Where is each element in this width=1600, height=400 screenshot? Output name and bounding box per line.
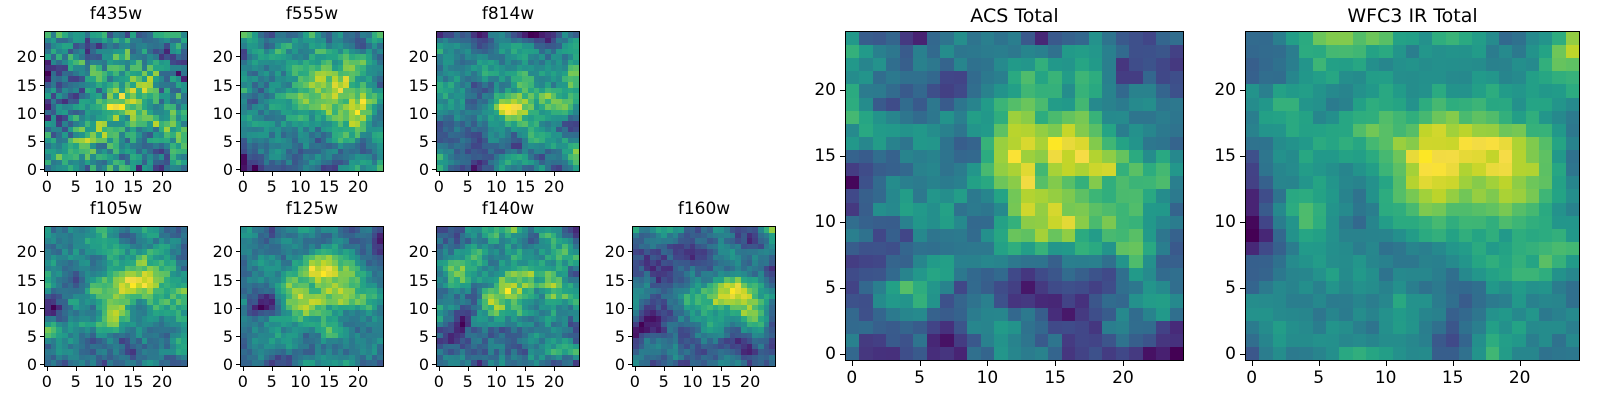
x-tick-label: 10: [967, 368, 1007, 388]
x-tick: [272, 367, 273, 371]
y-tick: [40, 251, 44, 252]
y-tick-label: 5: [588, 327, 625, 346]
y-tick: [1240, 354, 1245, 355]
x-tick: [1319, 361, 1320, 366]
y-tick-label: 15: [1201, 146, 1236, 166]
y-tick-label: 5: [1201, 278, 1236, 298]
y-tick: [236, 364, 240, 365]
x-tick: [47, 367, 48, 371]
heatmap-f435w: [44, 31, 188, 172]
y-tick-label: 0: [0, 160, 37, 179]
x-tick-label: 20: [142, 177, 182, 196]
y-tick: [236, 308, 240, 309]
y-tick-label: 15: [588, 271, 625, 290]
panel-title-f555w: f555w: [240, 4, 384, 24]
x-tick-label: 10: [1366, 368, 1406, 388]
x-tick: [329, 367, 330, 371]
y-tick: [236, 141, 240, 142]
y-tick-label: 20: [0, 242, 37, 261]
x-tick: [496, 367, 497, 371]
x-tick: [987, 361, 988, 366]
heatmap-f814w: [436, 31, 580, 172]
panel-f435w: f435w0510152005101520: [0, 5, 190, 196]
y-tick-label: 0: [801, 344, 836, 364]
y-tick-label: 20: [0, 47, 37, 66]
x-tick: [554, 367, 555, 371]
y-tick-label: 15: [0, 76, 37, 95]
y-tick: [840, 90, 845, 91]
y-tick: [628, 280, 632, 281]
y-tick-label: 0: [1201, 344, 1236, 364]
x-tick-label: 20: [730, 372, 770, 391]
x-tick: [468, 172, 469, 176]
figure-canvas: f435w0510152005101520f555w05101520051015…: [0, 0, 1600, 400]
y-tick-label: 10: [196, 299, 233, 318]
x-tick: [76, 172, 77, 176]
panel-f160w: f160w0510152005101520: [588, 200, 778, 391]
y-tick: [40, 364, 44, 365]
y-tick-label: 5: [196, 327, 233, 346]
panel-title-acs-total: ACS Total: [845, 5, 1184, 27]
y-tick-label: 5: [392, 132, 429, 151]
y-tick: [432, 336, 436, 337]
y-tick-label: 10: [1201, 212, 1236, 232]
y-tick: [432, 251, 436, 252]
y-tick: [432, 169, 436, 170]
y-tick-label: 5: [196, 132, 233, 151]
y-tick: [40, 141, 44, 142]
x-tick: [1055, 361, 1056, 366]
panel-title-f435w: f435w: [44, 4, 188, 24]
y-tick: [628, 336, 632, 337]
y-tick: [1240, 222, 1245, 223]
x-tick: [104, 367, 105, 371]
y-tick-label: 0: [196, 160, 233, 179]
y-tick: [628, 308, 632, 309]
x-tick: [272, 172, 273, 176]
y-tick-label: 20: [196, 47, 233, 66]
y-tick: [40, 169, 44, 170]
y-tick: [236, 85, 240, 86]
y-tick: [236, 169, 240, 170]
y-tick: [432, 141, 436, 142]
x-tick: [243, 367, 244, 371]
x-tick-label: 20: [338, 372, 378, 391]
x-tick-label: 0: [832, 368, 872, 388]
y-tick-label: 15: [0, 271, 37, 290]
heatmap-acs-total: [845, 31, 1184, 361]
x-tick: [133, 367, 134, 371]
y-tick-label: 20: [196, 242, 233, 261]
x-tick-label: 20: [534, 177, 574, 196]
x-tick-label: 20: [1500, 368, 1540, 388]
x-tick-label: 5: [900, 368, 940, 388]
x-tick: [358, 367, 359, 371]
x-tick: [439, 367, 440, 371]
panel-f555w: f555w0510152005101520: [196, 5, 386, 196]
y-tick: [840, 222, 845, 223]
y-tick: [40, 85, 44, 86]
x-tick: [554, 172, 555, 176]
y-tick: [628, 251, 632, 252]
y-tick-label: 5: [0, 132, 37, 151]
y-tick: [432, 308, 436, 309]
y-tick: [432, 364, 436, 365]
y-tick: [432, 56, 436, 57]
y-tick: [236, 280, 240, 281]
x-tick: [1520, 361, 1521, 366]
y-tick-label: 10: [196, 104, 233, 123]
y-tick-label: 15: [392, 271, 429, 290]
x-tick-label: 5: [1299, 368, 1339, 388]
y-tick: [1240, 288, 1245, 289]
heatmap-wfc3-ir-total: [1245, 31, 1580, 361]
x-tick-label: 0: [1232, 368, 1272, 388]
y-tick-label: 0: [196, 355, 233, 374]
x-tick: [104, 172, 105, 176]
y-tick-label: 20: [1201, 80, 1236, 100]
x-tick: [468, 367, 469, 371]
x-tick: [1386, 361, 1387, 366]
x-tick: [133, 172, 134, 176]
panel-wfc3-ir-total: WFC3 IR Total0510152005101520: [1201, 5, 1582, 385]
y-tick-label: 20: [588, 242, 625, 261]
heatmap-f125w: [240, 226, 384, 367]
y-tick: [628, 364, 632, 365]
x-tick: [1123, 361, 1124, 366]
panel-f105w: f105w0510152005101520: [0, 200, 190, 391]
y-tick-label: 0: [0, 355, 37, 374]
x-tick: [664, 367, 665, 371]
heatmap-f555w: [240, 31, 384, 172]
y-tick-label: 0: [392, 160, 429, 179]
y-tick: [40, 113, 44, 114]
x-tick: [525, 367, 526, 371]
panel-title-f160w: f160w: [632, 199, 776, 219]
y-tick-label: 10: [392, 104, 429, 123]
x-tick: [76, 367, 77, 371]
x-tick: [496, 172, 497, 176]
x-tick: [162, 172, 163, 176]
y-tick-label: 15: [801, 146, 836, 166]
y-tick: [432, 113, 436, 114]
x-tick: [243, 172, 244, 176]
panel-acs-total: ACS Total0510152005101520: [801, 5, 1186, 385]
y-tick: [40, 308, 44, 309]
y-tick: [236, 113, 240, 114]
y-tick-label: 5: [392, 327, 429, 346]
y-tick-label: 10: [392, 299, 429, 318]
y-tick: [432, 85, 436, 86]
y-tick-label: 10: [0, 104, 37, 123]
y-tick: [840, 288, 845, 289]
x-tick-label: 20: [1103, 368, 1143, 388]
x-tick: [358, 172, 359, 176]
x-tick: [300, 367, 301, 371]
y-tick-label: 5: [0, 327, 37, 346]
x-tick-label: 20: [338, 177, 378, 196]
y-tick-label: 5: [801, 278, 836, 298]
x-tick: [920, 361, 921, 366]
y-tick-label: 15: [196, 76, 233, 95]
y-tick-label: 20: [392, 47, 429, 66]
y-tick: [840, 354, 845, 355]
panel-title-f105w: f105w: [44, 199, 188, 219]
y-tick-label: 20: [801, 80, 836, 100]
y-tick: [236, 336, 240, 337]
x-tick-label: 15: [1433, 368, 1473, 388]
y-tick-label: 10: [0, 299, 37, 318]
y-tick: [40, 280, 44, 281]
y-tick-label: 15: [392, 76, 429, 95]
y-tick: [40, 56, 44, 57]
x-tick: [47, 172, 48, 176]
x-tick: [852, 361, 853, 366]
x-tick-label: 20: [534, 372, 574, 391]
heatmap-f160w: [632, 226, 776, 367]
panel-f814w: f814w0510152005101520: [392, 5, 582, 196]
x-tick-label: 15: [1035, 368, 1075, 388]
x-tick: [329, 172, 330, 176]
y-tick: [432, 280, 436, 281]
panel-f125w: f125w0510152005101520: [196, 200, 386, 391]
y-tick-label: 0: [588, 355, 625, 374]
x-tick: [1252, 361, 1253, 366]
y-tick-label: 10: [801, 212, 836, 232]
y-tick-label: 20: [392, 242, 429, 261]
x-tick: [635, 367, 636, 371]
y-tick: [1240, 156, 1245, 157]
y-tick: [236, 251, 240, 252]
y-tick-label: 0: [392, 355, 429, 374]
y-tick-label: 15: [196, 271, 233, 290]
x-tick: [525, 172, 526, 176]
panel-title-wfc3-ir-total: WFC3 IR Total: [1245, 5, 1580, 27]
x-tick: [750, 367, 751, 371]
x-tick-label: 20: [142, 372, 182, 391]
x-tick: [162, 367, 163, 371]
y-tick: [40, 336, 44, 337]
x-tick: [300, 172, 301, 176]
heatmap-f140w: [436, 226, 580, 367]
y-tick: [1240, 90, 1245, 91]
panel-title-f125w: f125w: [240, 199, 384, 219]
x-tick: [721, 367, 722, 371]
y-tick: [840, 156, 845, 157]
y-tick: [236, 56, 240, 57]
y-tick-label: 10: [588, 299, 625, 318]
x-tick: [439, 172, 440, 176]
panel-title-f140w: f140w: [436, 199, 580, 219]
x-tick: [1453, 361, 1454, 366]
panel-title-f814w: f814w: [436, 4, 580, 24]
panel-f140w: f140w0510152005101520: [392, 200, 582, 391]
x-tick: [692, 367, 693, 371]
heatmap-f105w: [44, 226, 188, 367]
